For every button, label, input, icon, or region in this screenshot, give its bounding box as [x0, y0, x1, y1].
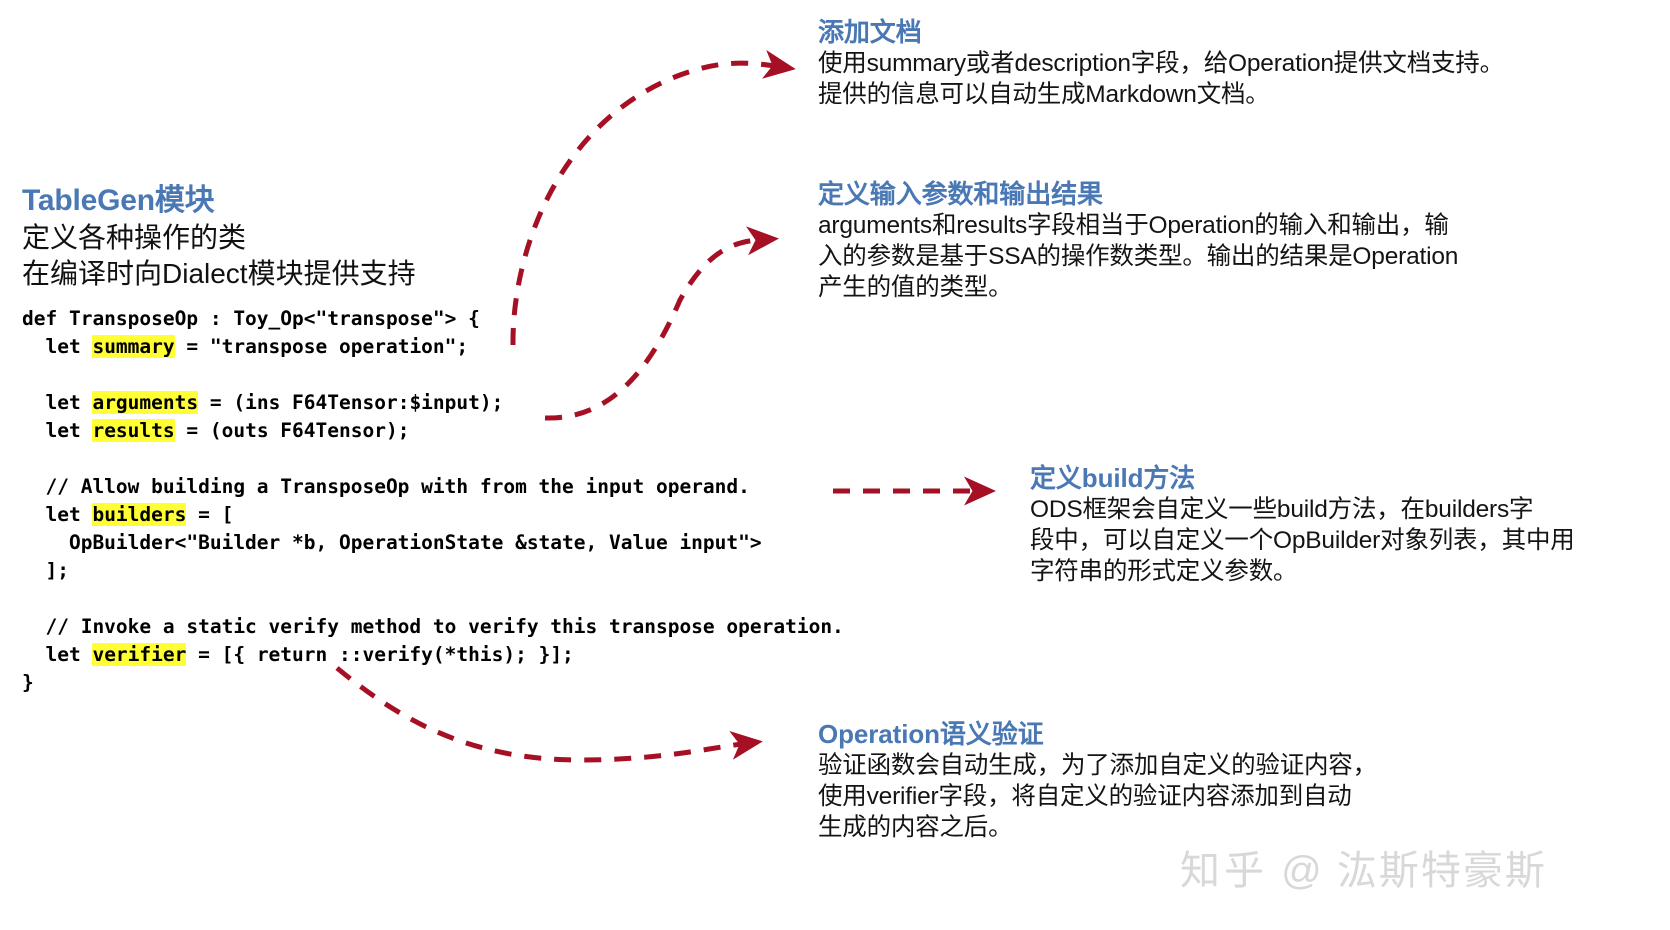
annotation-define-inputs-outputs: 定义输入参数和输出结果 arguments和results字段相当于Operat…	[818, 178, 1578, 303]
code-keyword-verifier: verifier	[92, 643, 186, 666]
annotation-body-line: 使用verifier字段，将自定义的验证内容添加到自动	[818, 781, 1598, 812]
code-line-13: let verifier = [{ return ::verify(*this)…	[22, 641, 1002, 669]
watermark-separator: @	[1281, 849, 1324, 893]
code-block: def TransposeOp : Toy_Op<"transpose"> { …	[22, 305, 1002, 697]
watermark-user: 汯斯特豪斯	[1337, 849, 1547, 893]
code-line-12: // Invoke a static verify method to veri…	[22, 613, 1002, 641]
code-text: let	[22, 643, 92, 666]
code-line-2: let summary = "transpose operation";	[22, 333, 1002, 361]
code-keyword-builders: builders	[92, 503, 186, 526]
code-line-5: let results = (outs F64Tensor);	[22, 417, 1002, 445]
code-line-1: def TransposeOp : Toy_Op<"transpose"> {	[22, 305, 1002, 333]
annotation-title: 定义build方法	[1030, 462, 1650, 494]
code-line-8: let builders = [	[22, 501, 1002, 529]
annotation-title: 添加文档	[818, 16, 1578, 48]
code-line-10: ];	[22, 557, 1002, 585]
annotation-body-line: ODS框架会自定义一些build方法，在builders字	[1030, 494, 1650, 525]
annotation-body: 验证函数会自动生成，为了添加自定义的验证内容， 使用verifier字段，将自定…	[818, 750, 1598, 843]
code-text: let	[22, 419, 92, 442]
code-text: ];	[22, 559, 69, 582]
code-text: }	[22, 671, 34, 694]
code-line-3	[22, 361, 1002, 389]
annotation-body-line: 提供的信息可以自动生成Markdown文档。	[818, 79, 1578, 110]
annotation-body: arguments和results字段相当于Operation的输入和输出，输 …	[818, 210, 1578, 303]
code-line-14: }	[22, 669, 1002, 697]
annotation-title: Operation语义验证	[818, 718, 1598, 750]
code-text: = "transpose operation";	[175, 335, 469, 358]
code-text: = [	[186, 503, 233, 526]
annotation-operation-semantic-verification: Operation语义验证 验证函数会自动生成，为了添加自定义的验证内容， 使用…	[818, 718, 1598, 843]
watermark-logo: 知乎	[1180, 849, 1268, 893]
code-text: let	[22, 391, 92, 414]
annotation-body-line: arguments和results字段相当于Operation的输入和输出，输	[818, 210, 1578, 241]
annotation-add-documentation: 添加文档 使用summary或者description字段，给Operation…	[818, 16, 1578, 110]
code-line-7: // Allow building a TransposeOp with fro…	[22, 473, 1002, 501]
annotation-body: ODS框架会自定义一些build方法，在builders字 段中，可以自定义一个…	[1030, 494, 1650, 587]
code-text: def TransposeOp : Toy_Op<"transpose"> {	[22, 307, 480, 330]
code-text: = (ins F64Tensor:$input);	[198, 391, 503, 414]
slide-canvas: TableGen模块 定义各种操作的类 在编译时向Dialect模块提供支持 d…	[0, 0, 1670, 930]
annotation-body: 使用summary或者description字段，给Operation提供文档支…	[818, 48, 1578, 110]
code-line-9: OpBuilder<"Builder *b, OperationState &s…	[22, 529, 1002, 557]
code-line-11	[22, 585, 1002, 613]
annotation-body-line: 字符串的形式定义参数。	[1030, 556, 1650, 587]
code-text: = (outs F64Tensor);	[175, 419, 410, 442]
code-line-4: let arguments = (ins F64Tensor:$input);	[22, 389, 1002, 417]
zhihu-watermark: 知乎 @ 汯斯特豪斯	[1180, 838, 1547, 896]
annotation-define-build-method: 定义build方法 ODS框架会自定义一些build方法，在builders字 …	[1030, 462, 1650, 587]
code-text: let	[22, 503, 92, 526]
annotation-body-line: 产生的值的类型。	[818, 272, 1578, 303]
annotation-body-line: 段中，可以自定义一个OpBuilder对象列表，其中用	[1030, 525, 1650, 556]
code-keyword-arguments: arguments	[92, 391, 198, 414]
code-text: = [{ return ::verify(*this); }];	[186, 643, 573, 666]
code-keyword-results: results	[92, 419, 174, 442]
code-text: // Allow building a TransposeOp with fro…	[22, 475, 750, 498]
code-keyword-summary: summary	[92, 335, 174, 358]
annotation-body-line: 验证函数会自动生成，为了添加自定义的验证内容，	[818, 750, 1598, 781]
annotation-body-line: 使用summary或者description字段，给Operation提供文档支…	[818, 48, 1578, 79]
code-text: let	[22, 335, 92, 358]
annotation-body-line: 入的参数是基于SSA的操作数类型。输出的结果是Operation	[818, 241, 1578, 272]
code-line-6	[22, 445, 1002, 473]
annotation-title: 定义输入参数和输出结果	[818, 178, 1578, 210]
code-text: OpBuilder<"Builder *b, OperationState &s…	[22, 531, 762, 554]
code-text: // Invoke a static verify method to veri…	[22, 615, 844, 638]
